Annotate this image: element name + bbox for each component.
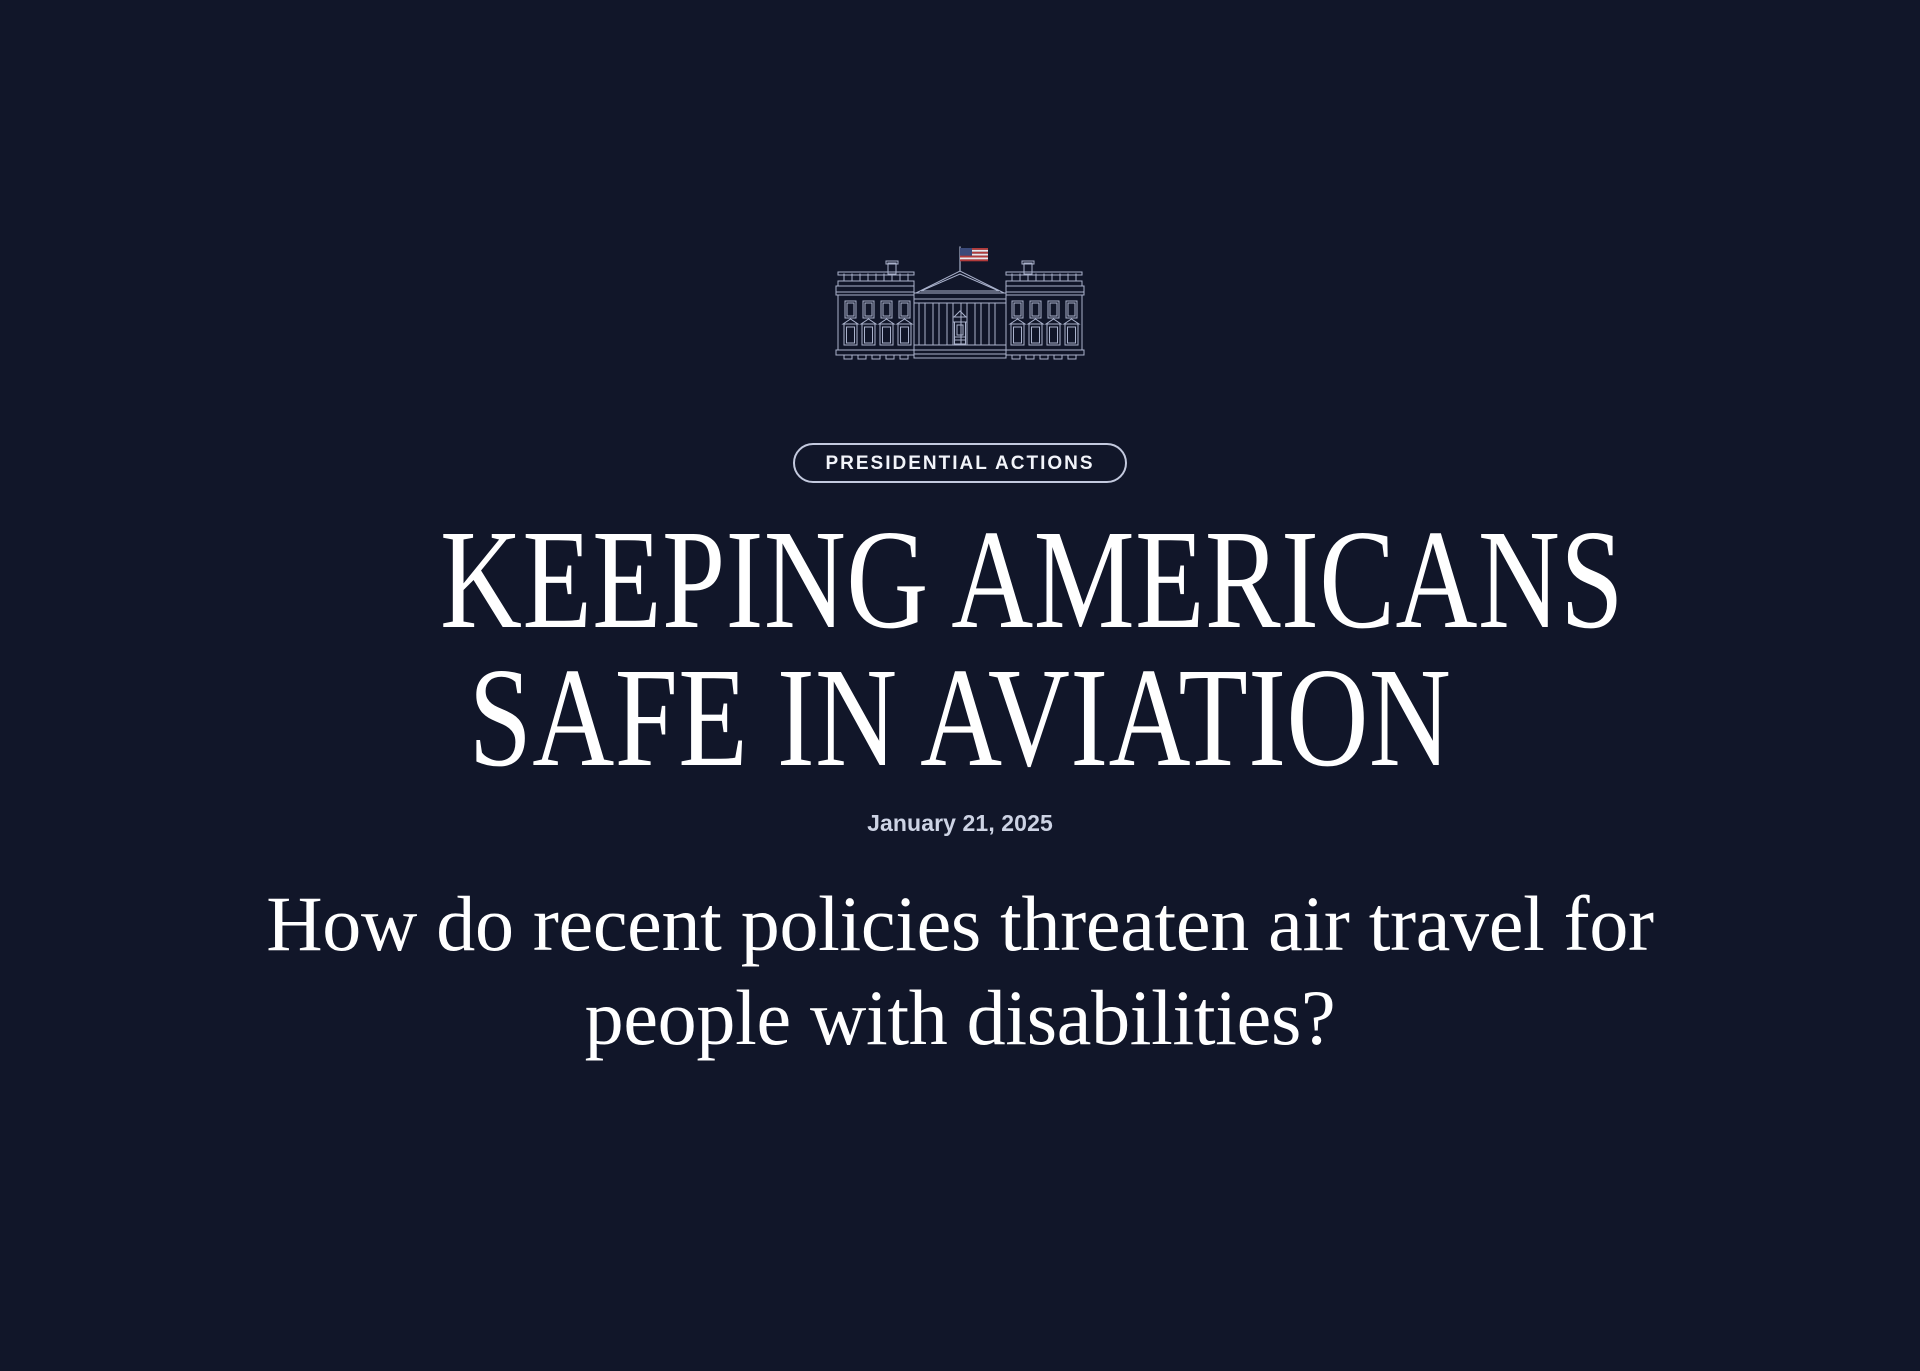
page-title-line-2: SAFE IN AVIATION bbox=[440, 649, 1480, 787]
white-house-logo-icon bbox=[826, 245, 1094, 385]
status-badge[interactable]: PRESIDENTIAL ACTIONS bbox=[793, 443, 1126, 483]
question-text: How do recent policies threaten air trav… bbox=[205, 877, 1715, 1064]
presidential-action-hero: PRESIDENTIAL ACTIONS KEEPING AMERICANS S… bbox=[0, 0, 1920, 1371]
page-title-line-1: KEEPING AMERICANS bbox=[440, 511, 1480, 649]
publish-date: January 21, 2025 bbox=[867, 812, 1053, 835]
badge-row: PRESIDENTIAL ACTIONS bbox=[0, 443, 1920, 483]
white-house-logo[interactable] bbox=[826, 245, 1094, 385]
page-title: KEEPING AMERICANS SAFE IN AVIATION bbox=[440, 511, 1480, 786]
